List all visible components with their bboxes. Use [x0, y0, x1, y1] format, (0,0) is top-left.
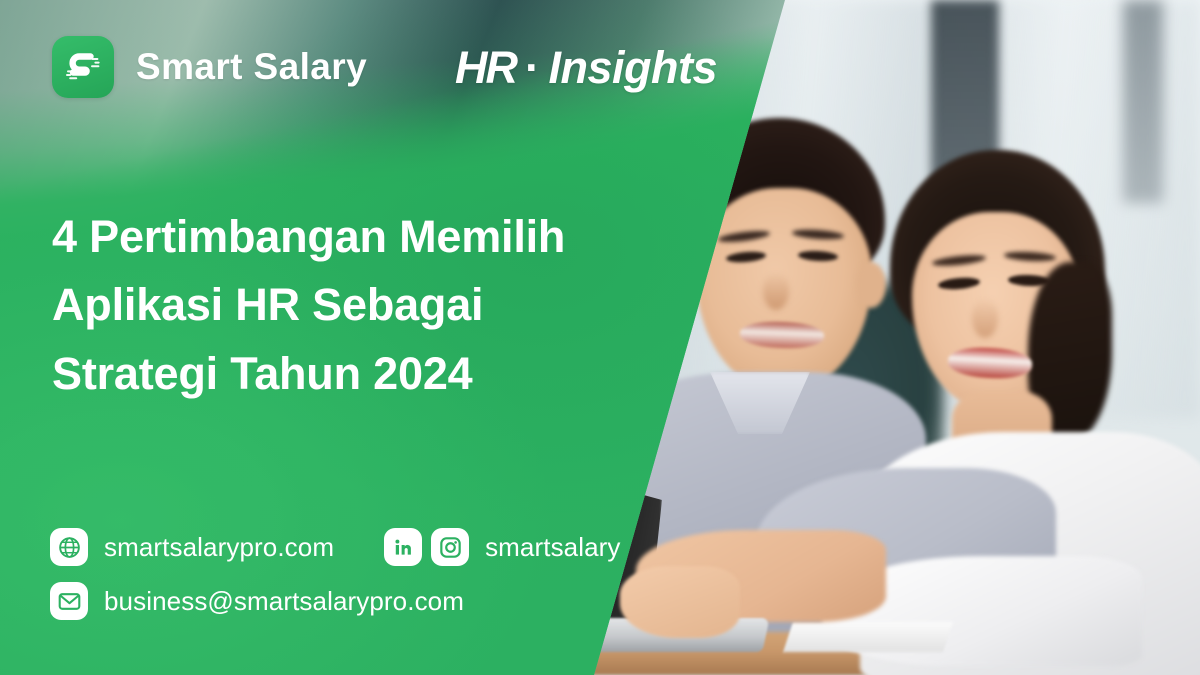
envelope-icon[interactable] — [50, 582, 88, 620]
email-label[interactable]: business@smartsalarypro.com — [104, 586, 464, 617]
hr-insights-banner: Smart Salary HR · Insights 4 Pertimbanga… — [0, 0, 1200, 675]
hr-insights-logo: HR · Insights — [455, 42, 717, 94]
website-label[interactable]: smartsalarypro.com — [104, 532, 334, 563]
smart-salary-s-logo-icon — [52, 36, 114, 98]
banner-content: Smart Salary HR · Insights 4 Pertimbanga… — [0, 0, 1200, 675]
website-and-social-row: smartsalarypro.com — [50, 524, 621, 570]
globe-icon[interactable] — [50, 528, 88, 566]
headline-line-2: Aplikasi HR Sebagai — [52, 271, 692, 339]
instagram-icon[interactable] — [431, 528, 469, 566]
brand-header: Smart Salary — [52, 36, 367, 98]
headline-line-1: 4 Pertimbangan Memilih — [52, 203, 692, 271]
hr-insights-separator: · — [516, 42, 549, 94]
social-handle[interactable]: smartsalary — [485, 532, 620, 563]
linkedin-icon[interactable] — [384, 528, 422, 566]
contact-footer: smartsalarypro.com — [50, 524, 621, 632]
hr-insights-hr: HR — [455, 42, 516, 94]
brand-name: Smart Salary — [136, 46, 367, 88]
page-title: 4 Pertimbangan Memilih Aplikasi HR Sebag… — [52, 203, 692, 408]
email-row: business@smartsalarypro.com — [50, 578, 621, 624]
social-links: smartsalary — [384, 528, 620, 566]
hr-insights-word: Insights — [549, 42, 718, 94]
headline-line-3: Strategi Tahun 2024 — [52, 340, 692, 408]
